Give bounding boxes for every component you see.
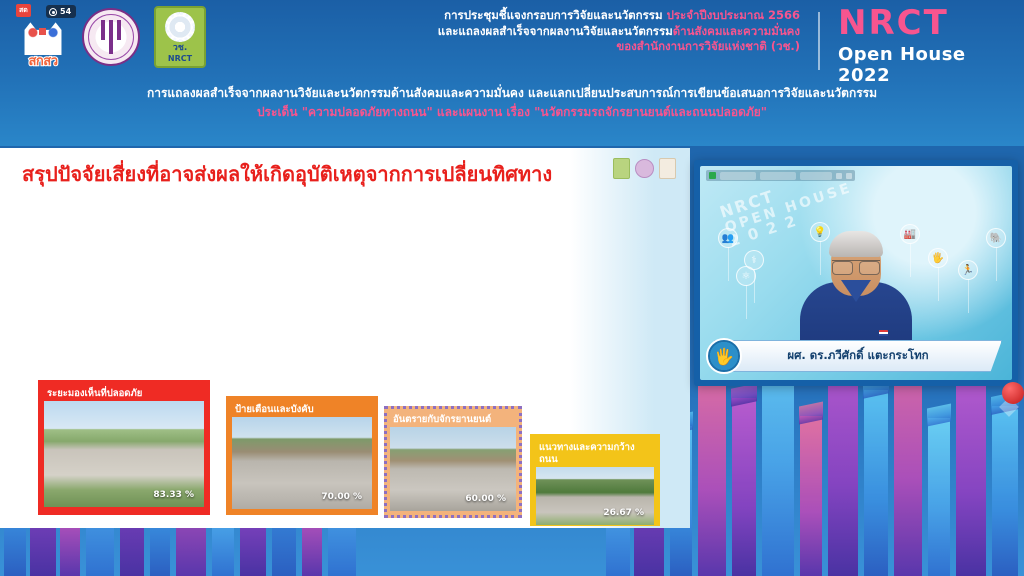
- flag-icon: [879, 330, 888, 336]
- viewer-count-badge: 54: [46, 5, 76, 18]
- sakso-logo-label: สกสว: [28, 55, 57, 68]
- hands-icon: 🖐: [928, 248, 948, 268]
- sakso-glyph: [22, 21, 64, 55]
- speaker-name-plate: ผศ. ดร.ภวีศักดิ์ แตะกระโทก: [714, 340, 1002, 372]
- presentation-slide: สรุปปัจจัยเสี่ยงที่อาจส่งผลให้เกิดอุบัติ…: [0, 148, 690, 528]
- broadcast-screen: สด 54 สกสว วช. NRCT การประชุมชี้แจงกรอบก…: [0, 0, 1024, 576]
- risk-card-2: ป้ายเตือนและบังคับ 70.00 %: [226, 396, 378, 515]
- risk-card-2-percent: 70.00 %: [321, 492, 362, 502]
- speaker-name: ผศ. ดร.ภวีศักดิ์ แตะกระโทก: [787, 347, 928, 365]
- header-title-line2-a: และแถลงผลสำเร็จจากผลงานวิจัยและนวัตกรรม: [438, 24, 673, 38]
- header-title-line1-a: การประชุมชี้แจงกรอบการวิจัยและนวัตกรรม: [444, 8, 666, 22]
- sakso-logo: สด 54 สกสว: [18, 6, 68, 68]
- speaker-hair: [829, 231, 883, 257]
- organization-logos: สด 54 สกสว วช. NRCT: [18, 6, 206, 68]
- runner-icon: 🏃: [958, 260, 978, 280]
- header-title-line2-b: ด้านสังคมและความมั่นคง: [673, 24, 800, 38]
- header-title-line1-b: ประจำปีงบประมาณ 2566: [667, 8, 800, 22]
- header-title-line1: การประชุมชี้แจงกรอบการวิจัยและนวัตกรรม ป…: [330, 8, 800, 24]
- gear-icon: [165, 12, 195, 42]
- sakso-plus-mark: [39, 28, 46, 35]
- viewer-count-value: 54: [60, 7, 71, 16]
- nrct-logo: วช. NRCT: [154, 6, 206, 68]
- risk-card-4-percent: 26.67 %: [603, 508, 644, 518]
- record-icon[interactable]: [720, 172, 756, 180]
- eyeglasses-icon: [832, 260, 880, 273]
- live-badge: สด: [16, 4, 31, 17]
- hands-badge-icon: 🖐: [706, 338, 742, 374]
- header-title-line3: ของสำนักงานการวิจัยแห่งชาติ (วช.): [330, 39, 800, 55]
- session-subtitle: การแถลงผลสำเร็จจากผลงานวิจัยและนวัตกรรมด…: [0, 84, 1024, 122]
- risk-card-3-photo: 60.00 %: [390, 427, 516, 511]
- risk-card-4: แนวทางและความกว้างถนน 26.67 %: [530, 434, 660, 526]
- video-feed: NRCT OPEN HOUSE 2022 👥 ⚕ ⚛ 💡 🏭 🖐 🏃 🐘: [700, 166, 1012, 380]
- chemistry-icon: ⚛: [736, 266, 756, 286]
- eye-icon: [49, 8, 57, 16]
- brand-name: NRCT: [838, 6, 1024, 40]
- subtitle-line2: ประเด็น "ความปลอดภัยทางถนน" และแผนงาน เร…: [0, 103, 1024, 122]
- nrct-logo-line2: NRCT: [168, 55, 192, 63]
- speaker-video-panel[interactable]: NRCT OPEN HOUSE 2022 👥 ⚕ ⚛ 💡 🏭 🖐 🏃 🐘: [694, 160, 1018, 386]
- risk-card-2-label: ป้ายเตือนและบังคับ: [232, 402, 372, 417]
- speaker-portrait: [800, 282, 912, 350]
- risk-card-1: ระยะมองเห็นที่ปลอดภัย 83.33 %: [38, 380, 210, 515]
- risk-card-1-percent: 83.33 %: [153, 490, 194, 500]
- header-title-line2: และแถลงผลสำเร็จจากผลงานวิจัยและนวัตกรรมด…: [330, 24, 800, 40]
- share-screen-icon[interactable]: [709, 172, 716, 179]
- slide-corner-logos: [613, 158, 676, 179]
- mute-icon[interactable]: [760, 172, 796, 180]
- trident-icon: [98, 20, 124, 54]
- risk-card-1-label: ระยะมองเห็นที่ปลอดภัย: [44, 386, 204, 401]
- lightbulb-icon: 💡: [810, 222, 830, 242]
- risk-card-4-photo: 26.67 %: [536, 467, 654, 525]
- mahidol-logo: [82, 8, 140, 66]
- nrct-brand-block: NRCT Open House 2022: [838, 6, 1024, 86]
- subtitle-line1: การแถลงผลสำเร็จจากผลงานวิจัยและนวัตกรรมด…: [0, 84, 1024, 103]
- event-header: สด 54 สกสว วช. NRCT การประชุมชี้แจงกรอบก…: [0, 0, 1024, 146]
- elephant-icon: 🐘: [986, 228, 1006, 248]
- risk-card-4-label: แนวทางและความกว้างถนน: [536, 440, 654, 467]
- nrct-mini-logo-icon: [613, 158, 630, 179]
- risk-card-3-label: อันตรายกับจักรยานยนต์: [390, 412, 516, 427]
- risk-card-2-photo: 70.00 %: [232, 417, 372, 509]
- speaker-body: [800, 282, 912, 350]
- nrct-logo-line1: วช.: [173, 44, 188, 53]
- factory-icon: 🏭: [900, 224, 920, 244]
- slide-title: สรุปปัจจัยเสี่ยงที่อาจส่งผลให้เกิดอุบัติ…: [22, 158, 552, 190]
- header-divider: [818, 12, 820, 70]
- recording-indicator-icon: [1002, 382, 1024, 404]
- sakso-mini-logo-icon: [659, 158, 676, 179]
- risk-card-3: อันตรายกับจักรยานยนต์ 60.00 %: [384, 406, 522, 518]
- mahidol-mini-logo-icon: [635, 159, 654, 178]
- risk-card-1-photo: 83.33 %: [44, 401, 204, 507]
- header-title-block: การประชุมชี้แจงกรอบการวิจัยและนวัตกรรม ป…: [330, 8, 800, 55]
- risk-card-3-percent: 60.00 %: [465, 494, 506, 504]
- brand-event-name: Open House 2022: [838, 44, 1024, 86]
- people-icon: 👥: [718, 228, 738, 248]
